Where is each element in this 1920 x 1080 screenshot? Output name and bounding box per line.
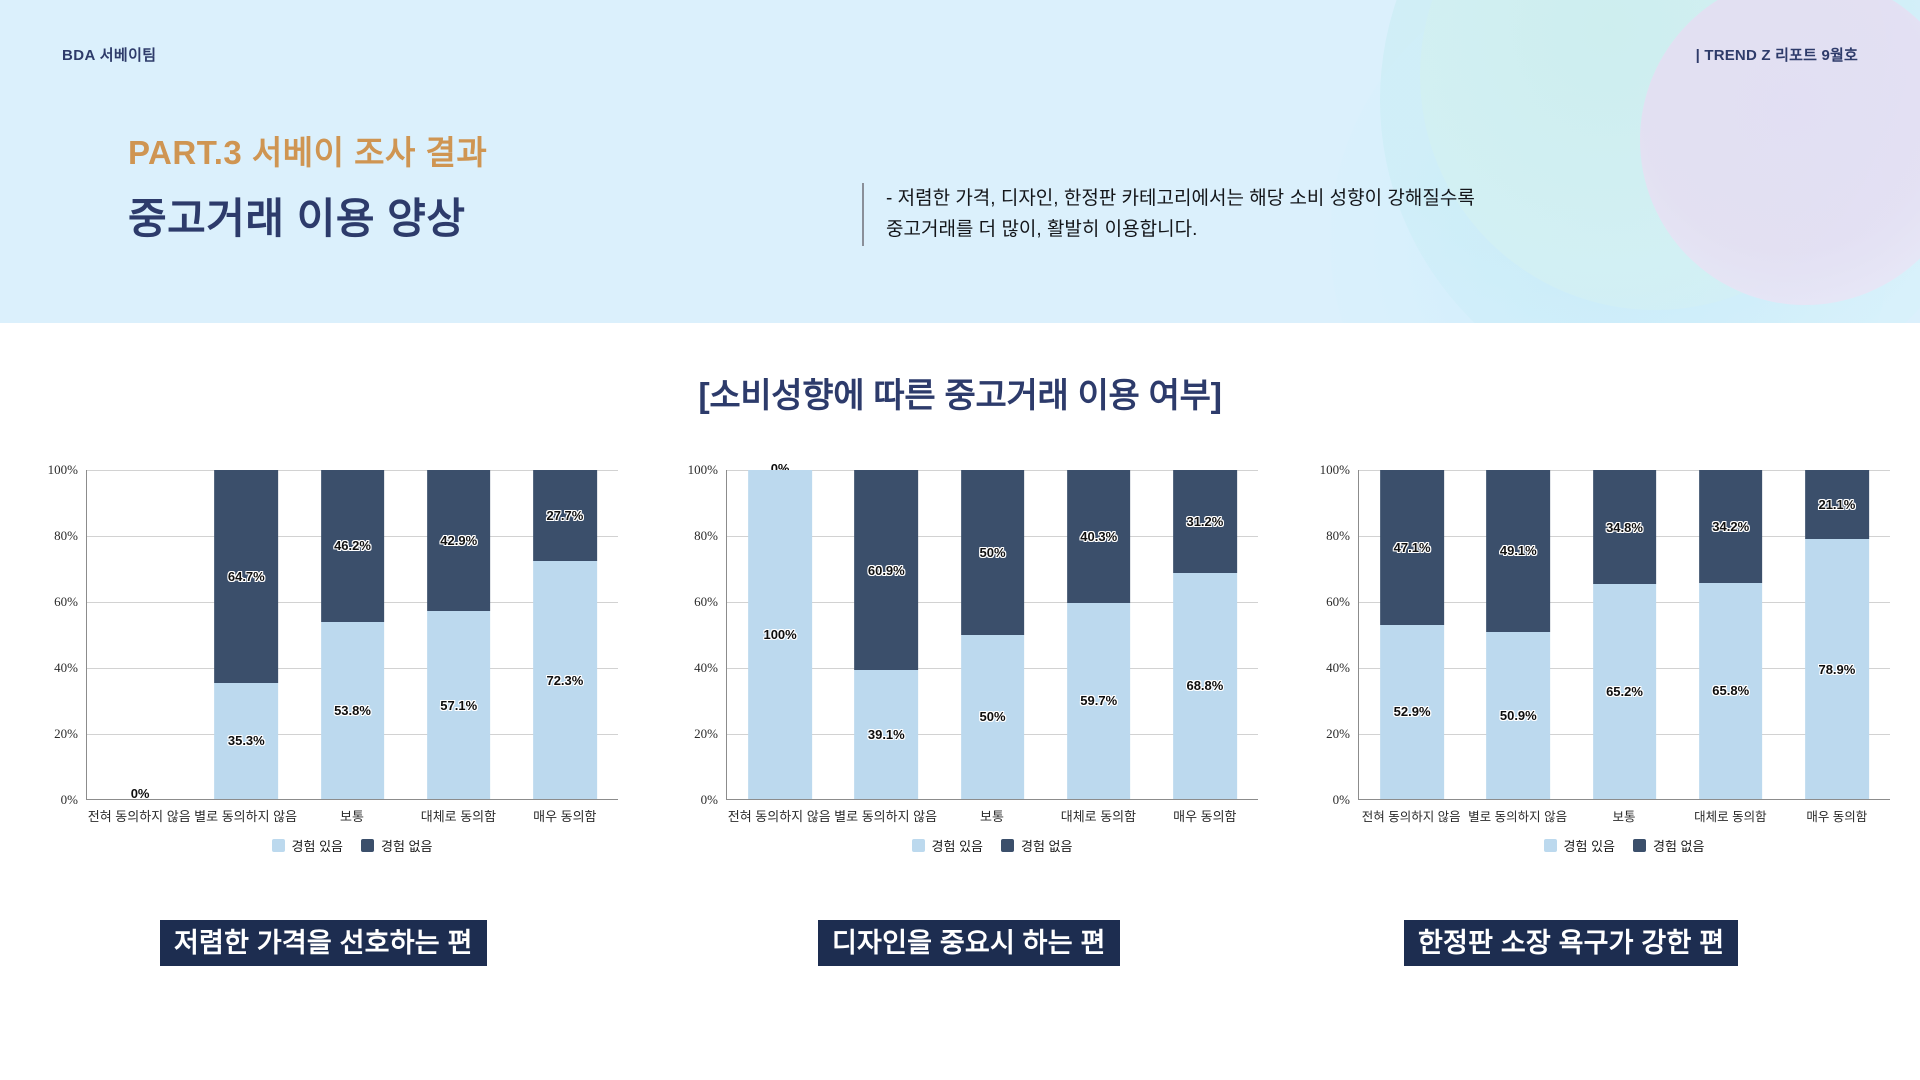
bar-segment-dark[interactable]: 42.9% [427,470,491,611]
y-axis-tick: 100% [48,462,78,478]
y-axis-tick: 0% [1333,792,1350,808]
x-axis-tick: 대체로 동의함 [1677,804,1783,830]
legend-item-not-experienced[interactable]: 경험 없음 [1001,836,1072,855]
bar-slot[interactable]: 0%100% [727,470,833,799]
legend-swatch-icon [272,839,285,852]
bar-segment-dark[interactable]: 49.1% [1486,470,1550,632]
y-axis-tick: 60% [1326,594,1350,610]
bar-slot[interactable]: 34.8%65.2% [1571,470,1677,799]
y-axis-tick: 20% [694,726,718,742]
bar-slot[interactable]: 40.3%59.7% [1046,470,1152,799]
y-axis: 100%80%60%40%20%0% [28,470,84,800]
plot-canvas: 47.1%52.9%49.1%50.9%34.8%65.2%34.2%65.8%… [1358,470,1890,800]
bar-value-label: 35.3% [228,733,265,748]
y-axis-tick: 40% [1326,660,1350,676]
legend-item-experienced[interactable]: 경험 있음 [272,836,343,855]
legend-label: 경험 없음 [1653,836,1704,855]
stacked-bar[interactable]: 100% [748,470,812,799]
bar-value-label: 34.2% [1712,519,1749,534]
issue-label: | TREND Z 리포트 9월호 [1696,44,1858,65]
bar-slot[interactable]: 46.2%53.8% [299,470,405,799]
x-axis-tick: 전혀 동의하지 않음 [86,804,192,830]
legend-swatch-icon [912,839,925,852]
bar-value-label: 50% [979,545,1005,560]
x-axis-tick: 별로 동의하지 않음 [1464,804,1570,830]
stacked-bar[interactable]: 60.9%39.1% [854,470,918,799]
stacked-bar[interactable]: 49.1%50.9% [1486,470,1550,799]
bar-segment-light[interactable]: 78.9% [1805,539,1869,799]
header-note: - 저렴한 가격, 디자인, 한정판 카테고리에서는 해당 소비 성향이 강해질… [862,183,1475,246]
legend-swatch-icon [1001,839,1014,852]
chart-block-1: 100%80%60%40%20%0%0%64.7%35.3%46.2%53.8%… [28,470,628,870]
stacked-bar[interactable]: 40.3%59.7% [1067,470,1131,799]
bar-slot[interactable]: 47.1%52.9% [1359,470,1465,799]
y-axis-tick: 100% [1320,462,1350,478]
bar-value-label: 65.2% [1606,684,1643,699]
bar-slot[interactable]: 27.7%72.3% [512,470,618,799]
bar-segment-dark[interactable]: 46.2% [321,470,385,622]
bar-segment-light[interactable]: 57.1% [427,611,491,799]
y-axis: 100%80%60%40%20%0% [1300,470,1356,800]
y-axis-tick: 80% [1326,528,1350,544]
x-axis-tick: 보통 [1571,804,1677,830]
bar-value-label: 42.9% [440,533,477,548]
chart-block-3: 100%80%60%40%20%0%47.1%52.9%49.1%50.9%34… [1300,470,1900,870]
bar-value-label: 59.7% [1080,693,1117,708]
header-note-line-2: 중고거래를 더 많이, 활발히 이용합니다. [886,214,1475,245]
legend-label: 경험 있음 [1564,836,1615,855]
bar-value-label: 21.1% [1818,497,1855,512]
bar-slot[interactable]: 31.2%68.8% [1152,470,1258,799]
bar-value-label: 39.1% [868,727,905,742]
legend-label: 경험 없음 [1021,836,1072,855]
stacked-bar[interactable]: 27.7%72.3% [533,470,597,799]
legend-label: 경험 있음 [932,836,983,855]
x-axis: 전혀 동의하지 않음별로 동의하지 않음보통대체로 동의함매우 동의함 [1358,804,1890,830]
y-axis-tick: 60% [54,594,78,610]
stacked-bar[interactable]: 31.2%68.8% [1173,470,1237,799]
charts-container: 100%80%60%40%20%0%0%64.7%35.3%46.2%53.8%… [0,470,1920,870]
bar-segment-dark[interactable]: 34.8% [1593,470,1657,584]
bar-value-label: 27.7% [546,508,583,523]
bar-value-label: 40.3% [1080,529,1117,544]
bar-slot[interactable]: 64.7%35.3% [193,470,299,799]
stacked-bar[interactable]: 64.7%35.3% [214,470,278,799]
x-axis-tick: 전혀 동의하지 않음 [726,804,832,830]
y-axis-tick: 80% [694,528,718,544]
stacked-bar[interactable]: 50%50% [961,470,1025,799]
x-axis-tick: 매우 동의함 [1784,804,1890,830]
y-axis-tick: 40% [694,660,718,676]
bar-segment-light[interactable]: 52.9% [1380,625,1444,799]
bar-segment-dark[interactable]: 64.7% [214,470,278,683]
caption-chart-2: 디자인을 중요시 하는 편 [818,920,1120,966]
bar-value-label: 65.8% [1712,683,1749,698]
bar-segment-dark[interactable]: 50% [961,470,1025,635]
bar-segment-light[interactable]: 39.1% [854,670,918,799]
x-axis: 전혀 동의하지 않음별로 동의하지 않음보통대체로 동의함매우 동의함 [726,804,1258,830]
y-axis-tick: 40% [54,660,78,676]
plot-canvas: 0%64.7%35.3%46.2%53.8%42.9%57.1%27.7%72.… [86,470,618,800]
bar-segment-light[interactable]: 72.3% [533,561,597,799]
bar-value-label: 34.8% [1606,520,1643,535]
bar-group: 0%64.7%35.3%46.2%53.8%42.9%57.1%27.7%72.… [87,470,618,799]
bar-segment-light[interactable]: 100% [748,470,812,799]
chart-section-title: [소비성향에 따른 중고거래 이용 여부] [0,368,1920,417]
stacked-bar[interactable]: 21.1%78.9% [1805,470,1869,799]
bar-value-label: 49.1% [1500,543,1537,558]
bar-value-label: 47.1% [1394,540,1431,555]
x-axis-tick: 매우 동의함 [1152,804,1258,830]
bar-value-label: 31.2% [1186,514,1223,529]
bar-segment-light[interactable]: 50% [961,635,1025,800]
x-axis: 전혀 동의하지 않음별로 동의하지 않음보통대체로 동의함매우 동의함 [86,804,618,830]
part-label: PART.3 서베이 조사 결과 [128,126,487,174]
x-axis-tick: 별로 동의하지 않음 [832,804,938,830]
bar-segment-light[interactable]: 50.9% [1486,632,1550,799]
bar-value-label: 78.9% [1818,662,1855,677]
bar-value-label: 0% [131,786,150,801]
plot-area: 100%80%60%40%20%0%47.1%52.9%49.1%50.9%34… [1300,470,1900,810]
bar-slot[interactable]: 42.9%57.1% [406,470,512,799]
bar-segment-light[interactable]: 35.3% [214,683,278,799]
bar-value-label: 50% [979,709,1005,724]
caption-chart-3: 한정판 소장 욕구가 강한 편 [1404,920,1738,966]
x-axis-tick: 대체로 동의함 [405,804,511,830]
bar-value-label: 68.8% [1186,678,1223,693]
bar-value-label: 57.1% [440,698,477,713]
plot-area: 100%80%60%40%20%0%0%64.7%35.3%46.2%53.8%… [28,470,628,810]
legend-swatch-icon [1544,839,1557,852]
y-axis-tick: 0% [701,792,718,808]
bar-value-label: 50.9% [1500,708,1537,723]
bar-slot[interactable]: 50%50% [939,470,1045,799]
legend-item-not-experienced[interactable]: 경험 없음 [1633,836,1704,855]
stacked-bar[interactable]: 46.2%53.8% [321,470,385,799]
x-axis-tick: 별로 동의하지 않음 [192,804,298,830]
bar-value-label: 100% [763,627,796,642]
chart-block-2: 100%80%60%40%20%0%0%100%60.9%39.1%50%50%… [668,470,1268,870]
bar-segment-dark[interactable]: 60.9% [854,470,918,670]
y-axis-tick: 80% [54,528,78,544]
y-axis-tick: 20% [1326,726,1350,742]
chart-legend: 경험 있음경험 없음 [726,834,1258,856]
bar-segment-dark[interactable]: 31.2% [1173,470,1237,573]
y-axis: 100%80%60%40%20%0% [668,470,724,800]
bar-value-label: 53.8% [334,703,371,718]
y-axis-tick: 60% [694,594,718,610]
bar-segment-light[interactable]: 53.8% [321,622,385,799]
bar-slot[interactable]: 34.2%65.8% [1678,470,1784,799]
caption-chart-1: 저렴한 가격을 선호하는 편 [160,920,487,966]
bar-segment-dark[interactable]: 47.1% [1380,470,1444,625]
x-axis-tick: 보통 [299,804,405,830]
brand-label: BDA 서베이팀 [62,44,157,65]
bar-segment-dark[interactable]: 27.7% [533,470,597,561]
bar-segment-dark[interactable]: 34.2% [1699,470,1763,583]
bar-segment-dark[interactable]: 21.1% [1805,470,1869,539]
stacked-bar[interactable]: 34.2%65.8% [1699,470,1763,799]
legend-item-not-experienced[interactable]: 경험 없음 [361,836,432,855]
x-axis-tick: 전혀 동의하지 않음 [1358,804,1464,830]
legend-item-experienced[interactable]: 경험 있음 [912,836,983,855]
plot-canvas: 0%100%60.9%39.1%50%50%40.3%59.7%31.2%68.… [726,470,1258,800]
captions-container: 저렴한 가격을 선호하는 편 디자인을 중요시 하는 편 한정판 소장 욕구가 … [0,920,1920,980]
legend-item-experienced[interactable]: 경험 있음 [1544,836,1615,855]
legend-label: 경험 없음 [381,836,432,855]
x-axis-tick: 매우 동의함 [512,804,618,830]
plot-area: 100%80%60%40%20%0%0%100%60.9%39.1%50%50%… [668,470,1268,810]
stacked-bar[interactable]: 34.8%65.2% [1593,470,1657,799]
slide-root: BDA 서베이팀 | TREND Z 리포트 9월호 PART.3 서베이 조사… [0,0,1920,1080]
bar-value-label: 46.2% [334,538,371,553]
bar-segment-light[interactable]: 68.8% [1173,573,1237,799]
stacked-bar[interactable]: 42.9%57.1% [427,470,491,799]
legend-swatch-icon [361,839,374,852]
bar-segment-light[interactable]: 65.8% [1699,583,1763,799]
header-note-line-1: - 저렴한 가격, 디자인, 한정판 카테고리에서는 해당 소비 성향이 강해질… [886,183,1475,214]
bar-group: 47.1%52.9%49.1%50.9%34.8%65.2%34.2%65.8%… [1359,470,1890,799]
bar-segment-dark[interactable]: 40.3% [1067,470,1131,603]
page-title: 중고거래 이용 양상 [128,185,465,246]
bar-value-label: 60.9% [868,563,905,578]
bar-value-label: 72.3% [546,673,583,688]
bar-value-label: 52.9% [1394,704,1431,719]
legend-swatch-icon [1633,839,1646,852]
stacked-bar[interactable]: 47.1%52.9% [1380,470,1444,799]
legend-label: 경험 있음 [292,836,343,855]
bar-group: 0%100%60.9%39.1%50%50%40.3%59.7%31.2%68.… [727,470,1258,799]
bar-segment-light[interactable]: 59.7% [1067,603,1131,799]
bar-value-label: 64.7% [228,569,265,584]
chart-legend: 경험 있음경험 없음 [86,834,618,856]
y-axis-tick: 100% [688,462,718,478]
y-axis-tick: 0% [61,792,78,808]
bar-slot[interactable]: 60.9%39.1% [833,470,939,799]
y-axis-tick: 20% [54,726,78,742]
bar-slot[interactable]: 21.1%78.9% [1784,470,1890,799]
chart-legend: 경험 있음경험 없음 [1358,834,1890,856]
bar-slot[interactable]: 49.1%50.9% [1465,470,1571,799]
bar-slot[interactable]: 0% [87,470,193,799]
x-axis-tick: 보통 [939,804,1045,830]
header-band: BDA 서베이팀 | TREND Z 리포트 9월호 PART.3 서베이 조사… [0,0,1920,323]
bar-segment-light[interactable]: 65.2% [1593,584,1657,799]
x-axis-tick: 대체로 동의함 [1045,804,1151,830]
